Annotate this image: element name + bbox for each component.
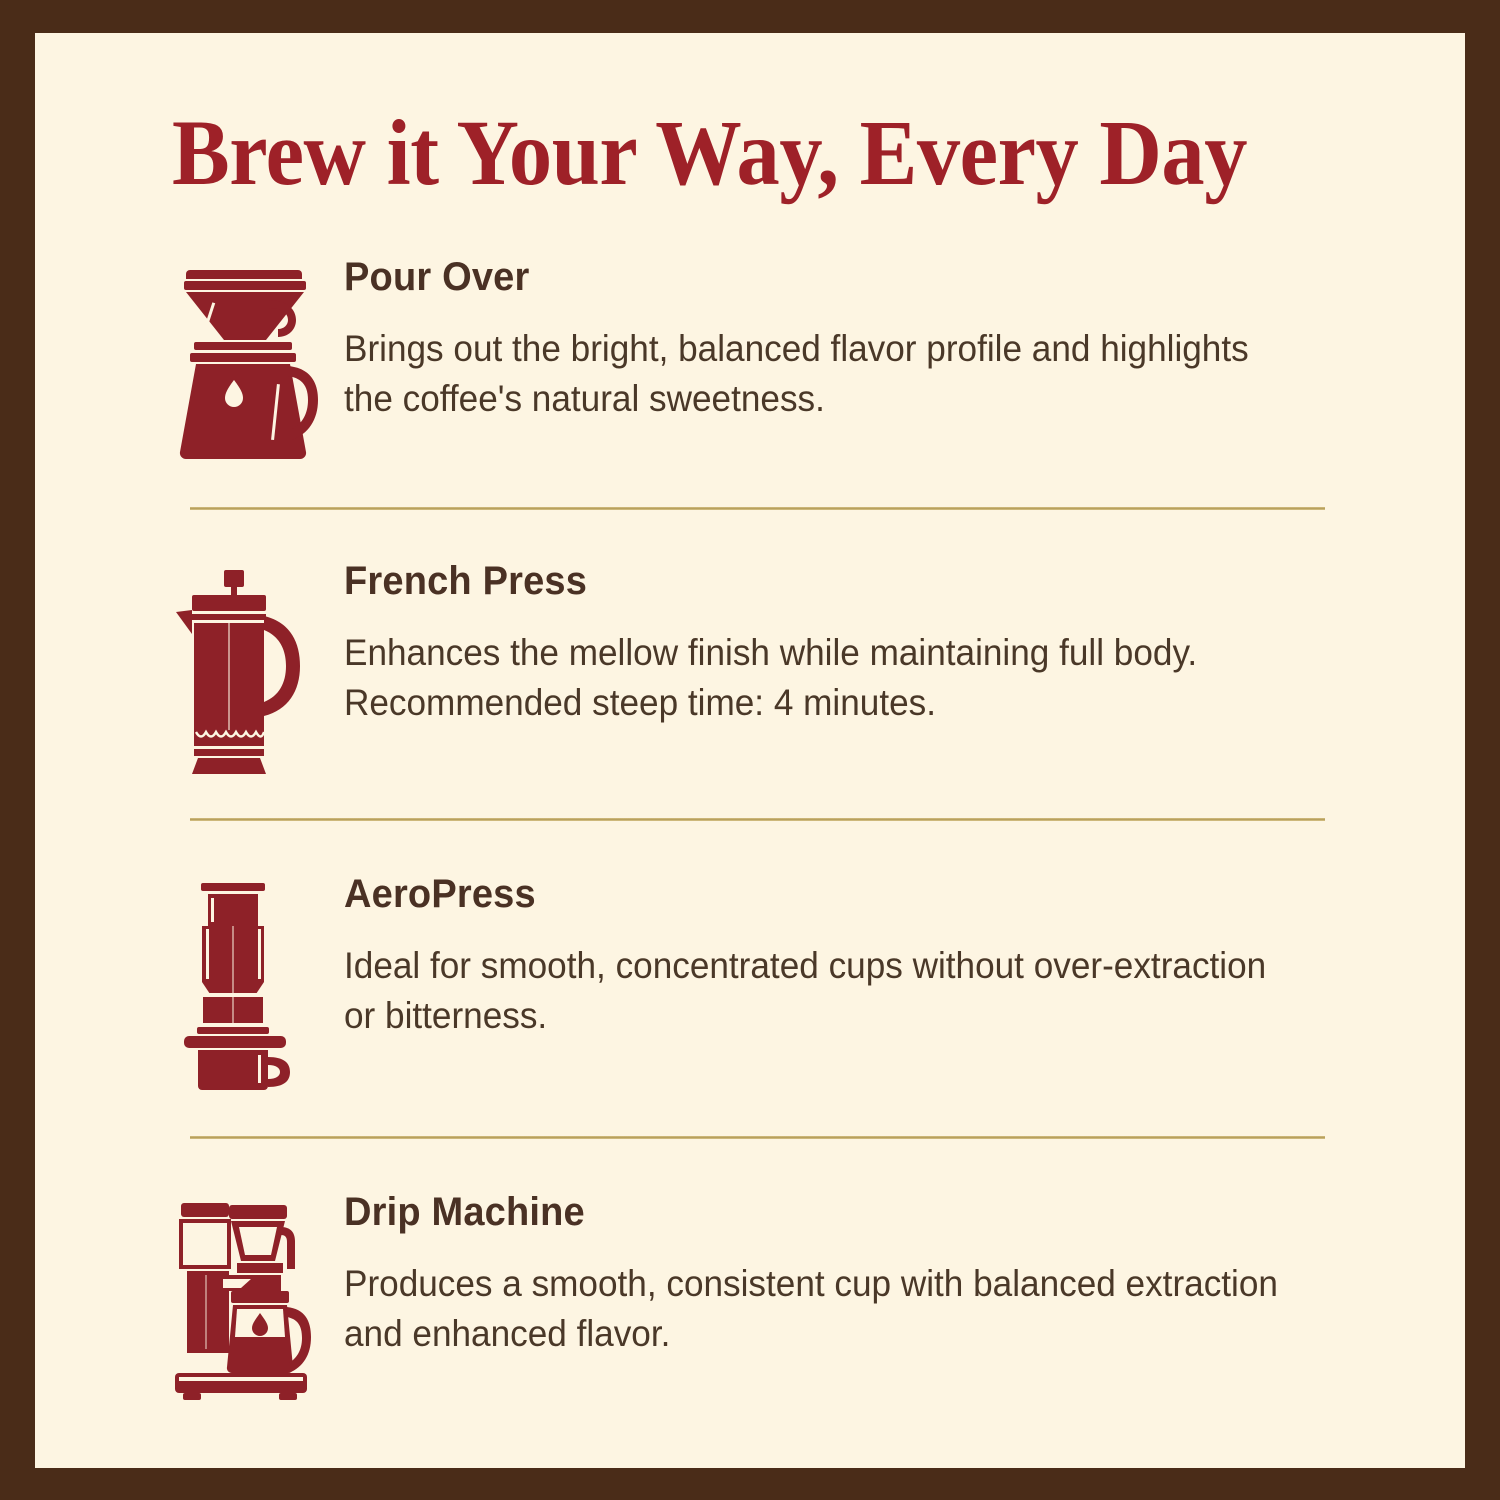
method-description: Ideal for smooth, concentrated cups with…	[344, 941, 1295, 1042]
list-item: French Press Enhances the mellow finish …	[35, 510, 1465, 818]
method-text: Pour Over Brings out the bright, balance…	[332, 256, 1345, 425]
method-description: Enhances the mellow finish while maintai…	[344, 628, 1295, 729]
method-description: Brings out the bright, balanced flavor p…	[344, 324, 1295, 425]
drip-machine-icon	[157, 1191, 332, 1402]
method-title: Drip Machine	[344, 1191, 1295, 1233]
list-item: Pour Over Brings out the bright, balance…	[35, 248, 1465, 507]
aeropress-icon	[157, 873, 332, 1094]
list-item: Drip Machine Produces a smooth, consiste…	[35, 1139, 1465, 1412]
brew-methods-card: Brew it Your Way, Every Day	[35, 33, 1465, 1468]
method-title: AeroPress	[344, 873, 1295, 915]
method-text: French Press Enhances the mellow finish …	[332, 560, 1345, 729]
method-text: AeroPress Ideal for smooth, concentrated…	[332, 873, 1345, 1042]
french-press-icon	[157, 560, 332, 778]
list-item: AeroPress Ideal for smooth, concentrated…	[35, 821, 1465, 1136]
method-description: Produces a smooth, consistent cup with b…	[344, 1259, 1295, 1360]
pour-over-dripper-icon	[157, 256, 332, 467]
page-title: Brew it Your Way, Every Day	[172, 107, 1269, 200]
method-text: Drip Machine Produces a smooth, consiste…	[332, 1191, 1345, 1360]
method-title: French Press	[344, 560, 1295, 602]
method-title: Pour Over	[344, 256, 1295, 298]
brew-method-list: Pour Over Brings out the bright, balance…	[35, 248, 1465, 1412]
